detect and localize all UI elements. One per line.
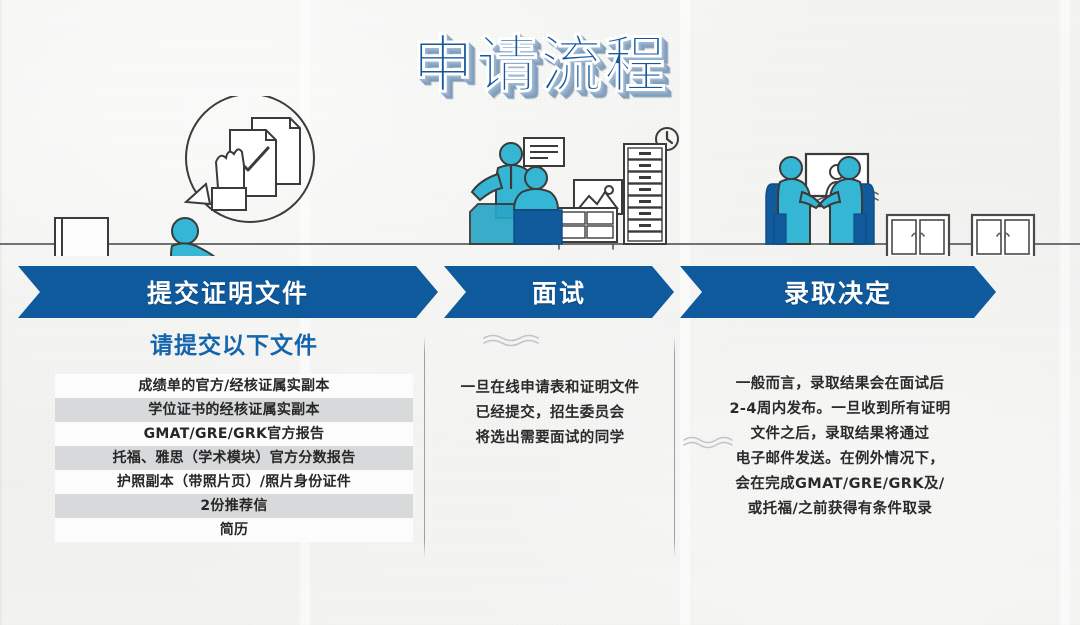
banner-step-label: 录取决定 [680,266,996,318]
banner-step-label: 面试 [444,266,674,318]
decision-text-line: 文件之后，录取结果将通过 [690,422,990,447]
banner-step-interview[interactable]: 面试 [444,266,674,318]
document-list-item: GMAT/GRE/GRK官方报告 [55,422,413,446]
documents-list: 成绩单的官方/经核证属实副本学位证书的经核证属实副本GMAT/GRE/GRK官方… [55,374,413,542]
document-list-item: 护照副本（带照片页）/照片身份证件 [55,470,413,494]
document-list-item: 托福、雅思（学术模块）官方分数报告 [55,446,413,470]
interview-description: 一旦在线申请表和证明文件已经提交，招生委员会将选出需要面试的同学 [434,376,666,451]
documents-heading: 请提交以下文件 [55,326,413,366]
document-list-item: 简历 [55,518,413,542]
decision-text-line: 会在完成GMAT/GRE/GRK及/ [690,472,990,497]
process-banner: 提交证明文件 面试 录取决定 [18,266,996,318]
document-list-item: 学位证书的经核证属实副本 [55,398,413,422]
drawer-unit-icon [555,208,617,249]
decision-text-line: 一般而言，录取结果会在面试后 [690,372,990,397]
banner-step-submit-documents[interactable]: 提交证明文件 [18,266,438,318]
decision-text-line: 电子邮件发送。在例外情况下， [690,447,990,472]
illustration-stage [0,96,1080,256]
documents-column: 请提交以下文件 成绩单的官方/经核证属实副本学位证书的经核证属实副本GMAT/G… [55,326,413,542]
window-icon-1 [887,215,949,256]
title-area: 申请流程 [0,14,1080,104]
page-title: 申请流程 [412,14,668,104]
speech-bubble-tail-icon [186,184,210,204]
scene-admissions-office [470,128,678,249]
banner-step-label: 提交证明文件 [18,266,438,318]
document-list-item: 成绩单的官方/经核证属实副本 [55,374,413,398]
door-icon [55,218,108,256]
decision-text-line: 或托福/之前获得有条件取录 [690,497,990,522]
content-columns: 请提交以下文件 成绩单的官方/经核证属实副本学位证书的经核证属实副本GMAT/G… [0,326,1080,576]
interview-text-line: 已经提交，招生委员会 [434,401,666,426]
interview-text-line: 将选出需要面试的同学 [434,426,666,451]
scene-interview [766,154,1034,256]
column-divider-1 [424,336,425,558]
scene-submit-documents [55,96,314,256]
hand-icon [212,149,246,210]
document-list-item: 2份推荐信 [55,494,413,518]
banner-step-admission-decision[interactable]: 录取决定 [680,266,996,318]
person-at-desk-icon [164,218,222,256]
wave-decoration-mid [480,332,550,348]
file-cabinet-icon [624,144,666,244]
decision-description: 一般而言，录取结果会在面试后2-4周内发布。一旦收到所有证明文件之后，录取结果将… [690,372,990,522]
illustration-svg [0,96,1080,256]
column-divider-2 [674,336,675,558]
decision-text-line: 2-4周内发布。一旦收到所有证明 [690,397,990,422]
window-icon-2 [972,215,1034,256]
interview-text-line: 一旦在线申请表和证明文件 [434,376,666,401]
